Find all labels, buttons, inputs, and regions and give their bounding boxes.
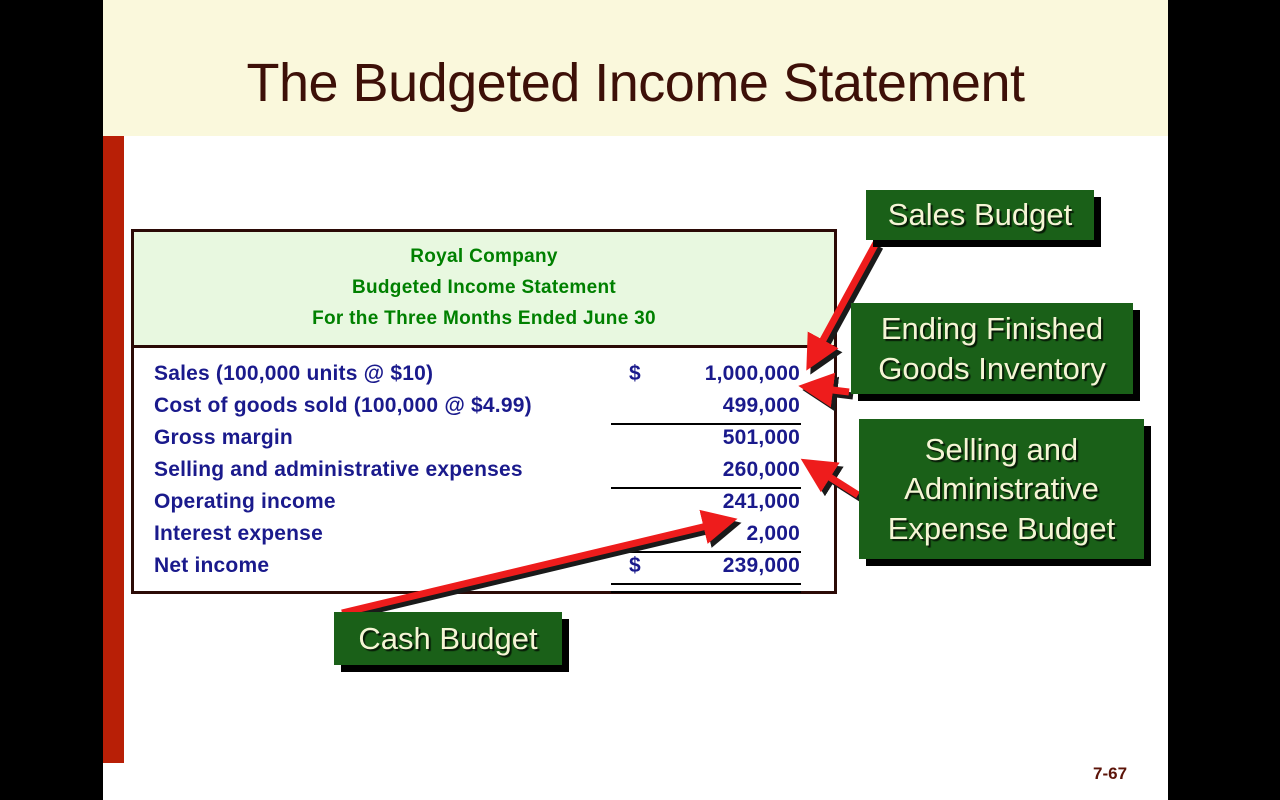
row-label: Interest expense — [154, 522, 323, 546]
table-row: Interest expense 2,000 — [134, 522, 834, 554]
row-value: 260,000 — [604, 458, 800, 482]
row-label: Selling and administrative expenses — [154, 458, 523, 482]
row-label: Sales (100,000 units @ $10) — [154, 362, 433, 386]
accent-bar — [103, 136, 124, 763]
callout-label: Cash Budget — [358, 619, 537, 658]
row-label: Net income — [154, 554, 269, 578]
row-value: 239,000 — [604, 554, 800, 578]
slide-number: 7-67 — [1093, 764, 1127, 784]
statement-report-name: Budgeted Income Statement — [134, 273, 834, 304]
row-label: Cost of goods sold (100,000 @ $4.99) — [154, 394, 532, 418]
statement-period: For the Three Months Ended June 30 — [134, 304, 834, 335]
statement-company-name: Royal Company — [134, 242, 834, 273]
slide-canvas: The Budgeted Income Statement Royal Comp… — [103, 0, 1168, 800]
callout-sales-budget[interactable]: Sales Budget — [866, 190, 1094, 240]
statement-body: Sales (100,000 units @ $10) $ 1,000,000 … — [134, 348, 834, 586]
row-value: 501,000 — [604, 426, 800, 450]
row-value: 241,000 — [604, 490, 800, 514]
table-row: Net income $ 239,000 — [134, 554, 834, 586]
statement-header: Royal Company Budgeted Income Statement … — [134, 232, 834, 348]
table-row: Selling and administrative expenses 260,… — [134, 458, 834, 490]
table-row: Sales (100,000 units @ $10) $ 1,000,000 — [134, 362, 834, 394]
callout-label: Ending Finished Goods Inventory — [878, 309, 1105, 388]
table-row: Operating income 241,000 — [134, 490, 834, 522]
row-label: Operating income — [154, 490, 336, 514]
row-label: Gross margin — [154, 426, 293, 450]
callout-cash-budget[interactable]: Cash Budget — [334, 612, 562, 665]
row-value: 499,000 — [604, 394, 800, 418]
callout-ending-finished-goods-inventory[interactable]: Ending Finished Goods Inventory — [851, 303, 1133, 394]
callout-label: Sales Budget — [888, 195, 1072, 234]
row-value: 1,000,000 — [604, 362, 800, 386]
page-title: The Budgeted Income Statement — [103, 52, 1168, 114]
table-row: Gross margin 501,000 — [134, 426, 834, 458]
title-band: The Budgeted Income Statement — [103, 0, 1168, 136]
row-value: 2,000 — [604, 522, 800, 546]
table-row: Cost of goods sold (100,000 @ $4.99) 499… — [134, 394, 834, 426]
budgeted-income-statement-table: Royal Company Budgeted Income Statement … — [131, 229, 837, 594]
callout-selling-administrative-expense-budget[interactable]: Selling and Administrative Expense Budge… — [859, 419, 1144, 559]
callout-label: Selling and Administrative Expense Budge… — [888, 430, 1116, 548]
